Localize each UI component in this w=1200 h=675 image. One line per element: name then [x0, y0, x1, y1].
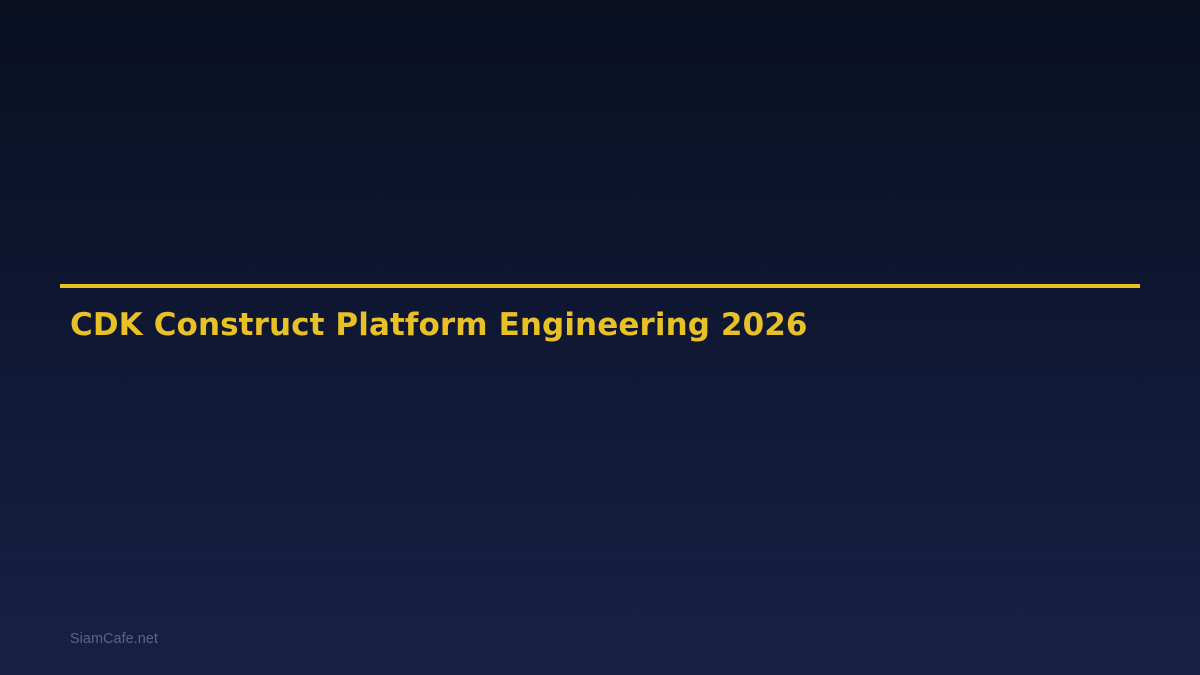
page-title: CDK Construct Platform Engineering 2026	[70, 305, 808, 345]
footer-brand-label: SiamCafe.net	[70, 630, 158, 648]
presentation-slide: CDK Construct Platform Engineering 2026 …	[0, 0, 1200, 675]
gold-accent-rule	[60, 284, 1140, 288]
